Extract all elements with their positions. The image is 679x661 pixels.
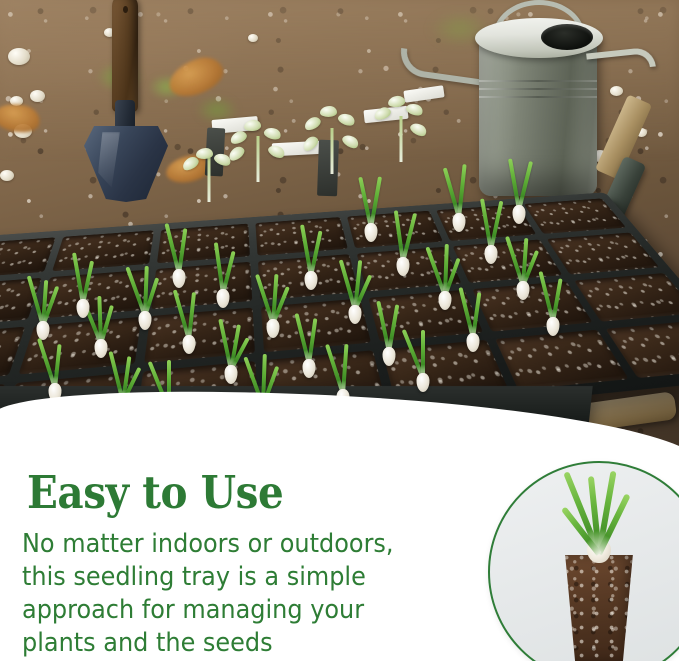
- seedling-blade: [221, 251, 236, 295]
- seedling-bulb: [383, 347, 396, 366]
- onion-seedling: [456, 280, 490, 352]
- onion-seedling: [214, 312, 248, 384]
- seedling-leaves-inset: [598, 553, 600, 554]
- onion-seedling: [506, 228, 540, 300]
- soil-plug: [563, 555, 635, 661]
- pebble-icon: [8, 48, 30, 65]
- pebble-icon: [248, 34, 258, 42]
- seedling-bulb: [173, 269, 186, 288]
- seedling-bulb: [139, 311, 152, 330]
- seedling-bulb: [225, 365, 238, 384]
- seedling-blade: [309, 231, 322, 277]
- plant-leaf: [337, 111, 357, 128]
- background-plant: [372, 104, 430, 162]
- plant-leaf: [266, 143, 286, 161]
- watering-can-band: [479, 88, 597, 90]
- seedling-bulb: [417, 373, 430, 392]
- trowel-handle: [112, 0, 138, 112]
- onion-seedling: [338, 252, 372, 324]
- seedling-bulb: [397, 257, 410, 276]
- seedling-blade: [177, 228, 187, 274]
- watering-can-band: [479, 80, 597, 82]
- seedling-blade: [401, 213, 417, 262]
- plant-leaf: [340, 132, 360, 150]
- plant-leaf: [320, 106, 337, 117]
- seedling-bulb: [365, 223, 378, 242]
- plant-leaf: [373, 105, 393, 122]
- onion-seedling: [292, 306, 326, 378]
- onion-seedling: [406, 320, 440, 392]
- seedling-bulb: [439, 291, 452, 310]
- seedling-bulb: [305, 271, 318, 290]
- onion-seedling: [256, 266, 290, 338]
- background-plant: [228, 124, 288, 182]
- onion-seedling: [38, 330, 72, 402]
- seedling-bulb: [485, 245, 498, 264]
- seedling-blade: [457, 164, 467, 218]
- tray-cell: [495, 329, 628, 390]
- plant-leaf: [408, 120, 428, 138]
- tray-cell: [573, 273, 679, 322]
- onion-seedling: [128, 258, 162, 330]
- onion-seedling: [206, 236, 240, 308]
- seedling-bulb: [467, 333, 480, 352]
- plant-leaf: [300, 134, 320, 153]
- seedling-bulb: [453, 213, 466, 232]
- description-text: No matter indoors or outdoors, this seed…: [22, 528, 417, 661]
- trowel-blade: [84, 126, 168, 202]
- onion-seedling: [386, 204, 420, 276]
- plant-leaf: [212, 151, 232, 168]
- background-plant: [182, 148, 236, 202]
- onion-seedling: [536, 264, 570, 336]
- seedling-blade: [53, 344, 62, 388]
- seedling-bulb: [547, 317, 560, 336]
- plant-leaf: [387, 95, 405, 108]
- watering-can-band: [479, 96, 597, 98]
- plant-leaf: [228, 129, 248, 146]
- tray-cell: [0, 326, 26, 386]
- seedling-blade: [471, 292, 481, 338]
- trowel-handle-hole: [123, 6, 128, 13]
- seedling-bulb: [267, 319, 280, 338]
- seedling-blade: [517, 161, 533, 210]
- seedling-blade: [551, 278, 563, 322]
- watering-can-body: [479, 34, 597, 196]
- garden-trowel-icon: [72, 0, 182, 200]
- seedling-bulb: [513, 205, 526, 224]
- onion-seedling: [442, 160, 476, 232]
- seedling-blade: [421, 330, 425, 378]
- seedling-blade: [369, 176, 382, 228]
- onion-seedling: [294, 218, 328, 290]
- seedling-blade: [81, 261, 94, 305]
- plant-leaf: [196, 148, 213, 160]
- plant-stem: [331, 128, 334, 174]
- plant-stem: [400, 116, 403, 162]
- seedling-bulb: [217, 289, 230, 308]
- onion-seedling: [372, 294, 406, 366]
- onion-seedling: [172, 282, 206, 354]
- product-infographic-poster: Easy to Use No matter indoors or outdoor…: [0, 0, 679, 661]
- background-plant: [300, 112, 364, 174]
- seedling-blade: [307, 318, 317, 364]
- seedling-bulb: [77, 299, 90, 318]
- onion-seedling: [354, 170, 388, 242]
- plant-leaf: [263, 126, 283, 142]
- pebble-icon: [0, 170, 14, 181]
- seedling-blade: [187, 292, 196, 340]
- plant-leaf: [302, 115, 322, 133]
- seedling-blade: [341, 344, 348, 394]
- seedling-bulb: [349, 305, 362, 324]
- seedling-bulb: [517, 281, 530, 300]
- watering-can-opening: [541, 24, 593, 50]
- onion-seedling: [502, 152, 536, 224]
- onion-seedling: [162, 216, 196, 288]
- plant-leaf: [244, 119, 262, 131]
- onion-seedling: [66, 246, 100, 318]
- seedling-bulb: [303, 359, 316, 378]
- page-title: Easy to Use: [27, 470, 283, 515]
- pebble-icon: [30, 90, 45, 102]
- seedling-blade: [387, 304, 399, 352]
- plant-leaf: [405, 101, 425, 117]
- plant-stem: [257, 136, 260, 182]
- plant-stem: [208, 156, 211, 202]
